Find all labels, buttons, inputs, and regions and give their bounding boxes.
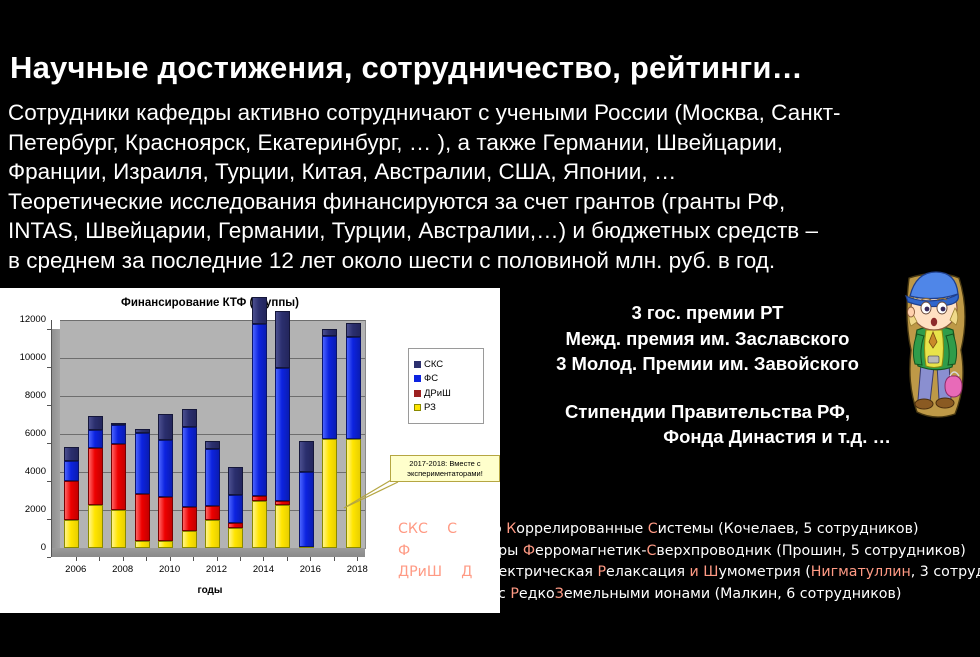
x-tick-label: 2014 — [238, 564, 288, 575]
x-tick-mark — [217, 557, 218, 561]
definition-text: -- — [442, 564, 461, 580]
body-line-3: Франции, Израиля, Турции, Китая, Австрал… — [8, 157, 973, 187]
y-tick-label: 10000 — [2, 352, 46, 363]
x-tick-mark — [310, 557, 311, 561]
bar-segment-rz — [135, 541, 150, 548]
award-line-4: Стипендии Правительства РФ, — [520, 399, 895, 425]
bar-segment-sks — [135, 429, 150, 433]
definition-text: ерромагнетик- — [535, 543, 646, 559]
bar-segment-fs — [158, 440, 173, 497]
bar-segment-rz — [322, 439, 337, 548]
y-tick-mark — [47, 557, 51, 558]
y-tick-mark — [47, 481, 51, 482]
chart-bar — [252, 297, 267, 548]
body-line-1: Сотрудники кафедры активно сотрудничают … — [8, 98, 973, 128]
chart-bar — [346, 323, 361, 548]
chart-bar — [88, 416, 103, 548]
chart-bar — [158, 413, 173, 548]
slide-root: Научные достижения, сотрудничество, рейт… — [0, 0, 980, 657]
x-tick-mark — [240, 557, 241, 561]
definition-highlight: З — [555, 586, 564, 602]
chart-title: Финансирование КТФ (группы) — [0, 297, 420, 309]
legend-label-fs: ФС — [424, 373, 438, 384]
definition-highlight: Д — [461, 564, 472, 580]
definition-highlight: Р — [597, 564, 606, 580]
body-line-6: в среднем за последние 12 лет около шест… — [8, 246, 973, 276]
definition-highlight: Ф — [398, 543, 410, 559]
chart-x-axis-label: годы — [60, 585, 360, 596]
awards-spacer — [520, 377, 895, 399]
bar-segment-rz — [158, 541, 173, 548]
legend-label-rz: РЗ — [424, 402, 436, 413]
award-line-1: 3 гос. премии РТ — [520, 300, 895, 326]
bar-segment-rz — [88, 505, 103, 548]
bar-segment-rz — [205, 520, 220, 549]
x-tick-mark — [76, 557, 77, 561]
y-tick-label: 6000 — [2, 428, 46, 439]
y-tick-label: 4000 — [2, 466, 46, 477]
body-line-4: Теоретические исследования финансируются… — [8, 187, 973, 217]
definition-highlight: С — [647, 543, 657, 559]
chart-legend: СКС ФС ДРиШ РЗ — [408, 348, 484, 424]
bar-segment-sks — [322, 329, 337, 337]
bar-segment-rz — [252, 501, 267, 549]
definition-text: иэлектрическая — [472, 564, 597, 580]
x-tick-label: 2010 — [145, 564, 195, 575]
definition-highlight: Ш — [703, 564, 718, 580]
definition-text: , 3 сотрудника — [911, 564, 980, 580]
x-tick-mark — [334, 557, 335, 561]
x-tick-label: 2008 — [98, 564, 148, 575]
definition-line-2: ФС -- структуры Ферромагнетик-Сверхпрово… — [398, 541, 980, 563]
definition-text: умометрия ( — [718, 564, 810, 580]
awards-block: 3 гос. премии РТ Межд. премия им. Заслав… — [520, 300, 895, 450]
definition-line-3: ДРиШ -- Диэлектрическая Релаксация и Шум… — [398, 562, 980, 584]
bar-segment-rz — [111, 510, 126, 548]
definition-highlight: ДРиШ — [398, 564, 442, 580]
body-line-5: INTAS, Швейцарии, Германии, Турции, Авст… — [8, 216, 973, 246]
y-tick-label: 12000 — [2, 314, 46, 325]
chart-plot-area: 020004000600080001000012000 200620082010… — [60, 320, 365, 548]
definition-highlight: и — [690, 564, 699, 580]
bar-segment-sks — [228, 467, 243, 495]
definition-text: елаксация — [606, 564, 689, 580]
x-tick-label: 2018 — [332, 564, 382, 575]
bar-segment-fs — [64, 461, 79, 481]
abbreviation-definitions: СКС -- Сильно Коррелированные Системы (К… — [398, 519, 980, 605]
legend-item-rz: РЗ — [414, 402, 478, 413]
bar-segment-sks — [158, 414, 173, 441]
definition-text: едко — [519, 586, 555, 602]
bar-segment-sks — [299, 441, 314, 471]
bar-segment-sks — [252, 297, 267, 325]
bar-segment-drish — [135, 494, 150, 542]
y-tick-mark — [47, 367, 51, 368]
chart-bar — [135, 429, 150, 548]
bar-segment-sks — [275, 311, 290, 368]
y-tick-mark — [47, 443, 51, 444]
bar-segment-fs — [346, 337, 361, 439]
y-axis-line — [51, 320, 52, 557]
bar-segment-rz — [275, 505, 290, 548]
definition-highlight: С — [648, 521, 658, 537]
y-tick-label: 8000 — [2, 390, 46, 401]
bar-segment-drish — [111, 444, 126, 511]
y-tick-mark — [47, 329, 51, 330]
legend-swatch-rz-icon — [414, 404, 421, 411]
definition-highlight: Р — [510, 586, 519, 602]
definition-text: -- структуры — [420, 543, 523, 559]
definition-highlight: СКС — [398, 521, 428, 537]
bar-segment-fs — [205, 449, 220, 506]
chart-bars — [60, 320, 365, 548]
x-tick-mark — [123, 557, 124, 561]
bar-segment-sks — [111, 423, 126, 425]
chart-bar — [228, 467, 243, 548]
legend-label-drish: ДРиШ — [424, 388, 451, 399]
legend-item-sks: СКС — [414, 359, 478, 370]
bar-segment-fs — [182, 427, 197, 507]
bar-segment-rz — [64, 520, 79, 548]
bar-segment-drish — [182, 507, 197, 532]
x-tick-mark — [146, 557, 147, 561]
definition-line-1: СКС -- Сильно Коррелированные Системы (К… — [398, 519, 980, 541]
legend-swatch-fs-icon — [414, 375, 421, 382]
x-tick-label: 2012 — [192, 564, 242, 575]
bar-segment-sks — [346, 323, 361, 337]
plot-side-wall — [51, 329, 60, 557]
chart-bar — [205, 441, 220, 548]
y-tick-mark — [47, 519, 51, 520]
chart-bar — [275, 311, 290, 548]
bar-segment-drish — [88, 448, 103, 505]
x-tick-mark — [170, 557, 171, 561]
bar-segment-drish — [158, 497, 173, 541]
definition-highlight: Ф — [523, 543, 535, 559]
award-line-2: Межд. премия им. Заславского — [520, 326, 895, 352]
chart-bar — [111, 423, 126, 548]
definition-text: РЗ — [398, 586, 416, 602]
callout-line-1: 2017-2018: Вместе с — [409, 459, 480, 468]
x-tick-label: 2006 — [51, 564, 101, 575]
legend-swatch-drish-icon — [414, 390, 421, 397]
legend-label-sks: СКС — [424, 359, 443, 370]
bar-segment-drish — [64, 481, 79, 521]
legend-item-drish: ДРиШ — [414, 388, 478, 399]
bar-segment-fs — [111, 425, 126, 444]
chart-bar — [322, 329, 337, 548]
bar-segment-fs — [299, 472, 314, 547]
definition-text: истемы (Кочелаев, 5 сотрудников) — [658, 521, 919, 537]
bar-segment-fs — [88, 430, 103, 448]
body-paragraph: Сотрудники кафедры активно сотрудничают … — [8, 98, 973, 275]
bar-segment-rz — [228, 528, 243, 548]
page-title: Научные достижения, сотрудничество, рейт… — [10, 50, 970, 86]
x-tick-mark — [357, 557, 358, 561]
bar-segment-sks — [205, 441, 220, 450]
definition-text: ильно — [457, 521, 506, 537]
bar-segment-drish — [228, 523, 243, 528]
bar-segment-sks — [88, 416, 103, 430]
cartoon-boy-clipart-icon — [893, 252, 973, 422]
award-line-3: 3 Молод. Премии им. Завойского — [520, 351, 895, 377]
callout-line-2: экспериментаторами! — [407, 469, 483, 478]
bar-segment-sks — [64, 447, 79, 460]
x-tick-mark — [263, 557, 264, 561]
definition-highlight: К — [506, 521, 516, 537]
y-tick-label: 2000 — [2, 504, 46, 515]
plot-floor — [51, 548, 365, 557]
x-tick-label: 2016 — [285, 564, 335, 575]
bar-segment-fs — [228, 495, 243, 524]
bar-segment-fs — [322, 336, 337, 439]
chart-bar — [64, 447, 79, 548]
definition-text: емельными ионами (Малкин, 6 сотрудников) — [564, 586, 902, 602]
bar-segment-rz — [182, 531, 197, 548]
y-tick-label: 0 — [2, 542, 46, 553]
legend-item-fs: ФС — [414, 373, 478, 384]
definition-line-4: РЗ - системы с РедкоЗемельными ионами (М… — [398, 584, 980, 606]
definition-text: верхпроводник (Прошин, 5 сотрудников) — [656, 543, 965, 559]
definition-text: оррелированные — [516, 521, 647, 537]
bar-segment-fs — [135, 433, 150, 494]
x-tick-mark — [193, 557, 194, 561]
legend-swatch-sks-icon — [414, 361, 421, 368]
definition-text: - системы с — [416, 586, 511, 602]
x-tick-mark — [287, 557, 288, 561]
bar-segment-fs — [252, 324, 267, 496]
award-line-5: Фонда Династия и т.д. … — [520, 424, 895, 450]
chart-bar — [299, 441, 314, 548]
x-tick-mark — [99, 557, 100, 561]
chart-callout-annotation: 2017-2018: Вместе с экспериментаторами! — [390, 455, 500, 482]
bar-segment-sks — [182, 409, 197, 427]
chart-bar — [182, 409, 197, 548]
bar-segment-drish — [252, 496, 267, 500]
definition-highlight: Нигматуллин — [811, 564, 911, 580]
bar-segment-drish — [275, 501, 290, 505]
bar-segment-fs — [275, 368, 290, 501]
bar-segment-drish — [205, 506, 220, 519]
definition-text: -- — [428, 521, 447, 537]
y-tick-mark — [47, 405, 51, 406]
definition-highlight: С — [447, 521, 457, 537]
definition-text: С — [410, 543, 420, 559]
body-line-2: Петербург, Красноярск, Екатеринбург, … )… — [8, 128, 973, 158]
